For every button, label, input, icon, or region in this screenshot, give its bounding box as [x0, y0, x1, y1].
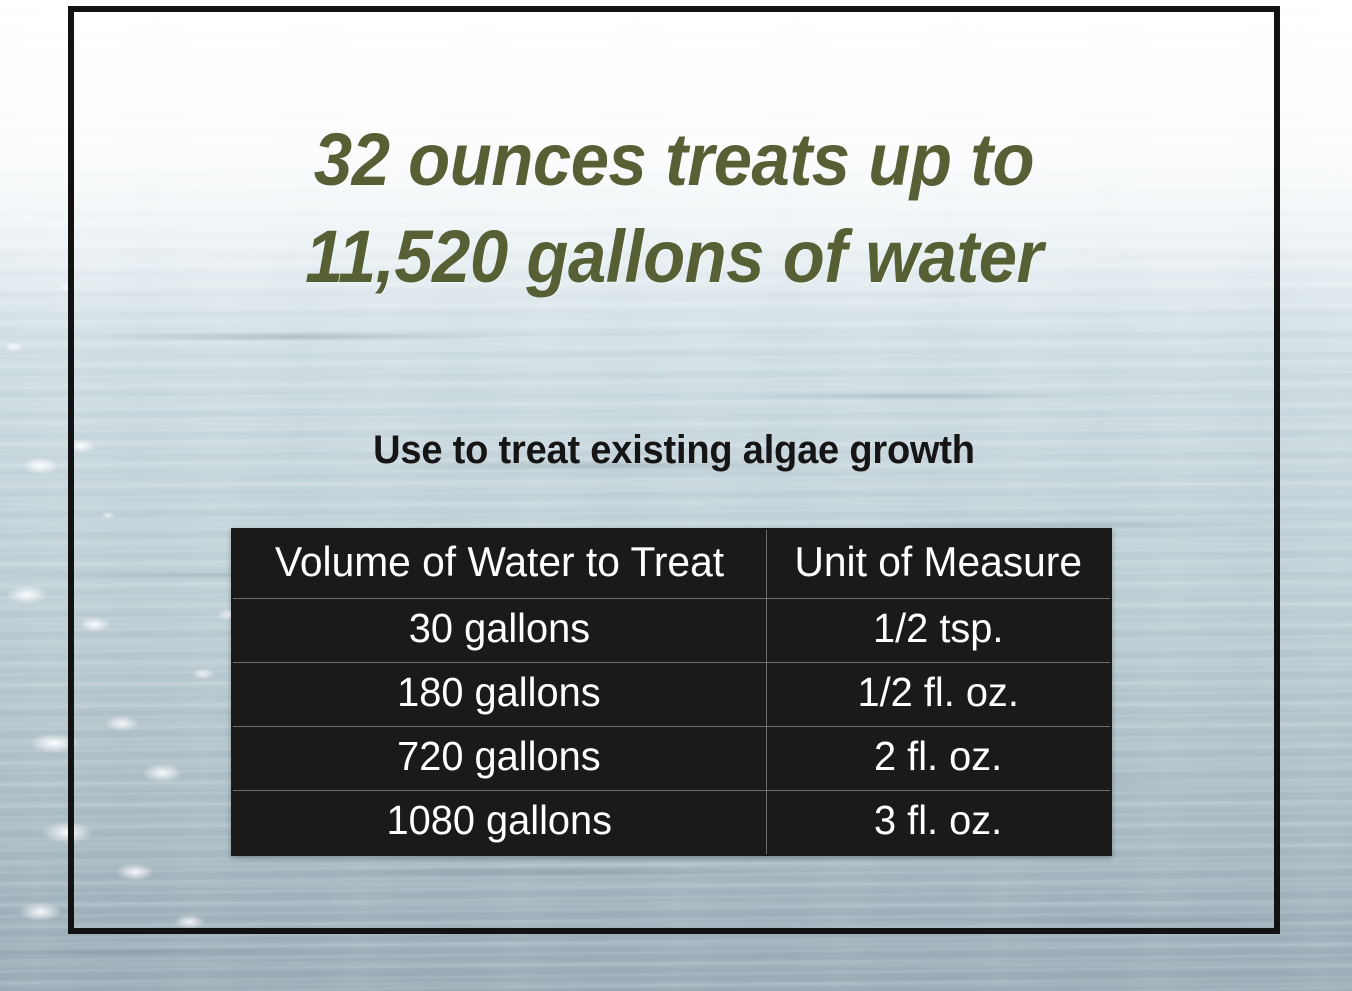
- headline-line-2: 11,520 gallons of water: [110, 208, 1237, 305]
- cell-unit-value: 1/2 tsp.: [873, 605, 1003, 652]
- cell-unit-value: 1/2 fl. oz.: [858, 669, 1019, 716]
- subheading: Use to treat existing algae growth: [98, 428, 1249, 473]
- table-row: 720 gallons 2 fl. oz.: [232, 727, 1111, 791]
- infographic-card: 32 ounces treats up to 11,520 gallons of…: [0, 0, 1352, 991]
- column-header-volume-label: Volume of Water to Treat: [275, 538, 724, 586]
- cell-volume: 720 gallons: [232, 727, 766, 791]
- cell-volume-value: 180 gallons: [398, 669, 601, 716]
- column-header-unit-label: Unit of Measure: [794, 538, 1082, 586]
- cell-volume-value: 30 gallons: [409, 605, 590, 652]
- cell-unit: 1/2 tsp.: [766, 599, 1111, 663]
- headline: 32 ounces treats up to 11,520 gallons of…: [110, 111, 1237, 305]
- column-header-volume: Volume of Water to Treat: [232, 529, 766, 599]
- cell-unit-value: 2 fl. oz.: [874, 733, 1002, 780]
- cell-volume: 1080 gallons: [232, 791, 766, 856]
- cell-unit: 1/2 fl. oz.: [766, 663, 1111, 727]
- card-content: 32 ounces treats up to 11,520 gallons of…: [68, 6, 1280, 934]
- table-header-row: Volume of Water to Treat Unit of Measure: [232, 529, 1111, 599]
- table-row: 180 gallons 1/2 fl. oz.: [232, 663, 1111, 727]
- column-header-unit: Unit of Measure: [766, 529, 1111, 599]
- table-row: 1080 gallons 3 fl. oz.: [232, 791, 1111, 856]
- cell-volume: 30 gallons: [232, 599, 766, 663]
- cell-volume-value: 1080 gallons: [386, 797, 612, 844]
- cell-unit: 2 fl. oz.: [766, 727, 1111, 791]
- table-row: 30 gallons 1/2 tsp.: [232, 599, 1111, 663]
- cell-unit: 3 fl. oz.: [766, 791, 1111, 856]
- headline-line-1: 32 ounces treats up to: [110, 111, 1237, 208]
- dosage-table: Volume of Water to Treat Unit of Measure…: [231, 528, 1112, 856]
- cell-volume: 180 gallons: [232, 663, 766, 727]
- cell-volume-value: 720 gallons: [398, 733, 601, 780]
- cell-unit-value: 3 fl. oz.: [874, 797, 1002, 844]
